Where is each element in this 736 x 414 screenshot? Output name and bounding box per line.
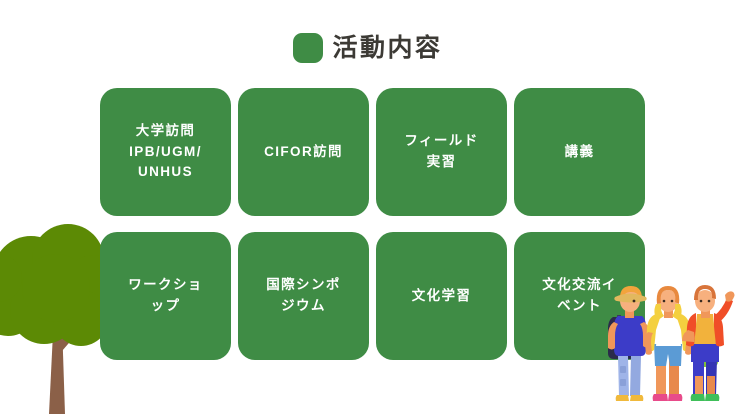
hiker-right-arm-raised xyxy=(714,298,733,323)
hiker-left-hat xyxy=(614,294,646,303)
card-lecture[interactable]: 講義 xyxy=(514,88,645,216)
hiker-right-shoe-right xyxy=(705,394,719,401)
card-label: 講義 xyxy=(565,142,595,163)
hiker-left-shoe-right xyxy=(630,395,643,401)
hiker-middle-shorts xyxy=(654,344,682,366)
hiker-left-shirt xyxy=(614,316,646,356)
hiker-middle xyxy=(645,286,692,401)
card-field-practice[interactable]: フィールド 実習 xyxy=(376,88,507,216)
hiker-middle-top xyxy=(656,316,681,346)
card-label: CIFOR訪問 xyxy=(264,142,343,163)
hiker-right-shoe-left xyxy=(691,394,705,401)
hiker-middle-shoe-left xyxy=(653,394,668,401)
hiker-right-eye-left xyxy=(700,300,703,303)
hiker-left-shoe-left xyxy=(616,395,629,401)
hiker-right-eye-right xyxy=(708,300,711,303)
rounded-square-bullet-icon xyxy=(293,33,323,63)
hiker-right-shirt xyxy=(694,314,716,344)
card-label: 大学訪問 IPB/UGM/ UNHUS xyxy=(129,121,202,184)
card-label: フィールド 実習 xyxy=(404,131,478,173)
page-title-label: 活動内容 xyxy=(332,36,442,61)
activity-card-grid: 大学訪問 IPB/UGM/ UNHUS CIFOR訪問 フィールド 実習 講義 … xyxy=(100,88,644,360)
hiker-left-pocket-b xyxy=(620,379,626,386)
hiker-left-leg-left xyxy=(618,356,629,396)
slide-canvas: 活動内容 大学訪問 IPB/UGM/ UNHUS CIFOR訪問 フィール xyxy=(0,0,736,414)
hiker-right xyxy=(682,285,735,401)
hiker-right-shorts xyxy=(691,342,719,362)
card-cifor-visit[interactable]: CIFOR訪問 xyxy=(238,88,369,216)
hiker-middle-eye-right xyxy=(671,300,674,303)
hiker-left-leg-right xyxy=(630,356,641,396)
hiker-left-pocket-a xyxy=(620,366,626,373)
card-international-symposium[interactable]: 国際シンポ ジウム xyxy=(238,232,369,360)
card-workshop[interactable]: ワークショ ップ xyxy=(100,232,231,360)
hiker-right-hand-raised xyxy=(725,291,735,301)
three-hikers-illustration xyxy=(604,282,736,414)
hiker-left xyxy=(608,286,650,401)
hiker-right-calf-right xyxy=(707,376,715,396)
hiker-right-calf-left xyxy=(695,376,703,396)
card-label: ワークショ ップ xyxy=(128,275,203,317)
card-cultural-study[interactable]: 文化学習 xyxy=(376,232,507,360)
card-label: 国際シンポ ジウム xyxy=(266,275,341,317)
hiker-middle-shoe-right xyxy=(668,394,682,401)
card-label: 文化学習 xyxy=(412,286,472,307)
hiker-left-eye xyxy=(633,300,636,303)
hiker-middle-eye-left xyxy=(663,300,666,303)
page-title: 活動内容 xyxy=(0,28,736,68)
card-university-visit[interactable]: 大学訪問 IPB/UGM/ UNHUS xyxy=(100,88,231,216)
